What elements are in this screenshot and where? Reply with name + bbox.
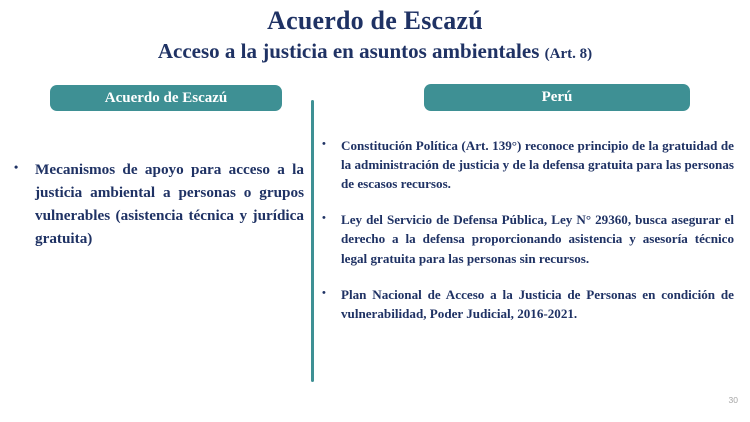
list-item: Mecanismos de apoyo para acceso a la jus…	[14, 158, 304, 250]
column-header-label: Perú	[542, 89, 573, 106]
bullet-list: Mecanismos de apoyo para acceso a la jus…	[14, 158, 304, 250]
page-subtitle-article: (Art. 8)	[545, 46, 592, 62]
column-header-label: Acuerdo de Escazú	[105, 90, 228, 107]
bullet-list: Constitución Política (Art. 139°) recono…	[322, 136, 734, 323]
list-item: Ley del Servicio de Defensa Pública, Ley…	[322, 210, 734, 267]
page-subtitle: Acceso a la justicia en asuntos ambienta…	[0, 39, 750, 64]
column-left-content: Mecanismos de apoyo para acceso a la jus…	[14, 158, 304, 250]
column-header-acuerdo-de-escazu: Acuerdo de Escazú	[50, 85, 282, 111]
column-divider	[311, 100, 314, 382]
list-item: Plan Nacional de Acceso a la Justicia de…	[322, 285, 734, 323]
slide: Acuerdo de Escazú Acceso a la justicia e…	[0, 0, 750, 422]
slide-title-block: Acuerdo de Escazú Acceso a la justicia e…	[0, 6, 750, 64]
list-item: Constitución Política (Art. 139°) recono…	[322, 136, 734, 193]
column-right-content: Constitución Política (Art. 139°) recono…	[322, 136, 734, 323]
page-number: 30	[729, 395, 738, 405]
page-subtitle-text: Acceso a la justicia en asuntos ambienta…	[158, 39, 540, 63]
column-header-peru: Perú	[424, 84, 690, 111]
page-title: Acuerdo de Escazú	[0, 6, 750, 37]
